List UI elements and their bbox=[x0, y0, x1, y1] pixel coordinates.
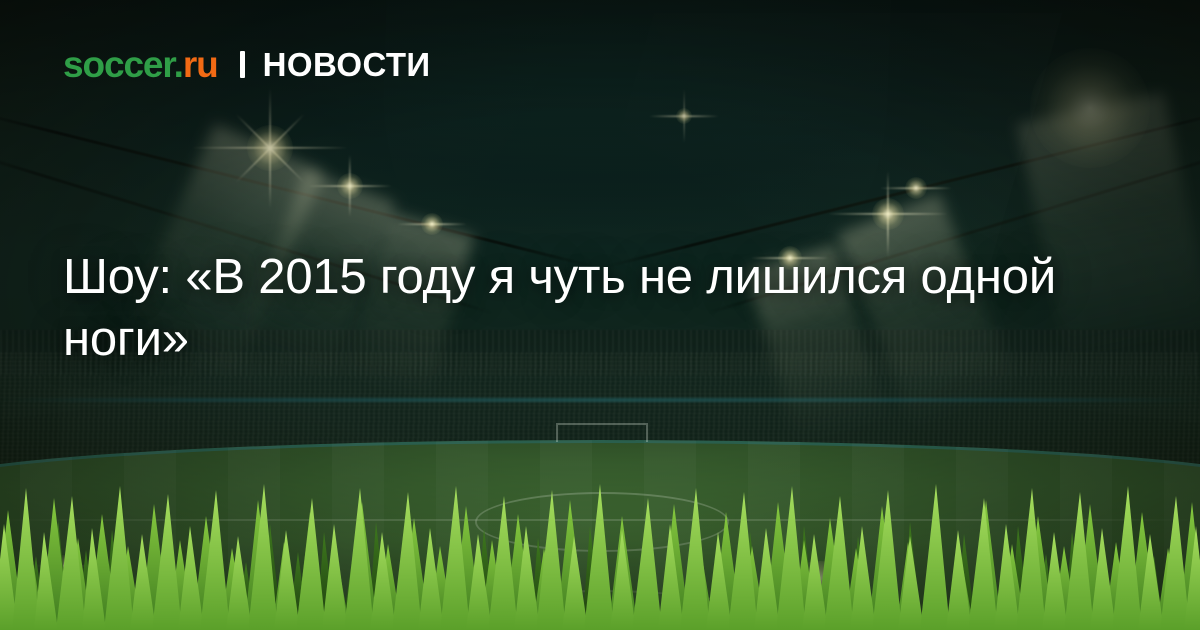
far-goal bbox=[556, 423, 648, 442]
roofline-left bbox=[0, 108, 593, 268]
floodlight-glow bbox=[872, 198, 904, 230]
stadium-tier-divider bbox=[0, 398, 1200, 402]
floodlight-ray bbox=[308, 185, 392, 187]
article-headline: Шоу: «В 2015 году я чуть не лишился одно… bbox=[63, 246, 1148, 370]
floodlight-ray bbox=[887, 171, 889, 257]
header-separator-icon bbox=[240, 51, 245, 78]
floodlight-glow bbox=[905, 177, 927, 199]
section-label-news: НОВОСТИ bbox=[263, 48, 431, 81]
foreground-grass bbox=[0, 480, 1200, 630]
floodlight-ray bbox=[269, 88, 271, 208]
logo-word-soccer: soccer bbox=[63, 44, 174, 85]
floodlight-ray bbox=[235, 113, 304, 182]
floodlight-glow bbox=[676, 108, 692, 124]
floodlight-ray bbox=[649, 115, 719, 117]
floodlight-glow bbox=[421, 213, 443, 235]
floodlight-ray bbox=[828, 213, 948, 215]
news-share-card: soccer.ru НОВОСТИ Шоу: «В 2015 году я чу… bbox=[0, 0, 1200, 630]
floodlight-ray bbox=[192, 147, 348, 149]
logo-word-ru: ru bbox=[183, 44, 218, 85]
floodlight-ray bbox=[880, 187, 952, 189]
floodlight-ray bbox=[235, 113, 304, 182]
floodlight-glow bbox=[247, 125, 293, 171]
soccer-ru-logo[interactable]: soccer.ru bbox=[63, 46, 218, 83]
floodlight-ray bbox=[683, 89, 684, 143]
floodlight-glow bbox=[337, 173, 363, 199]
roofline-right bbox=[607, 108, 1200, 268]
floodlight-glow bbox=[1030, 48, 1150, 168]
site-header: soccer.ru НОВОСТИ bbox=[63, 46, 431, 83]
floodlight-ray bbox=[349, 155, 351, 217]
logo-dot: . bbox=[174, 44, 183, 85]
floodlight-ray bbox=[397, 223, 467, 225]
